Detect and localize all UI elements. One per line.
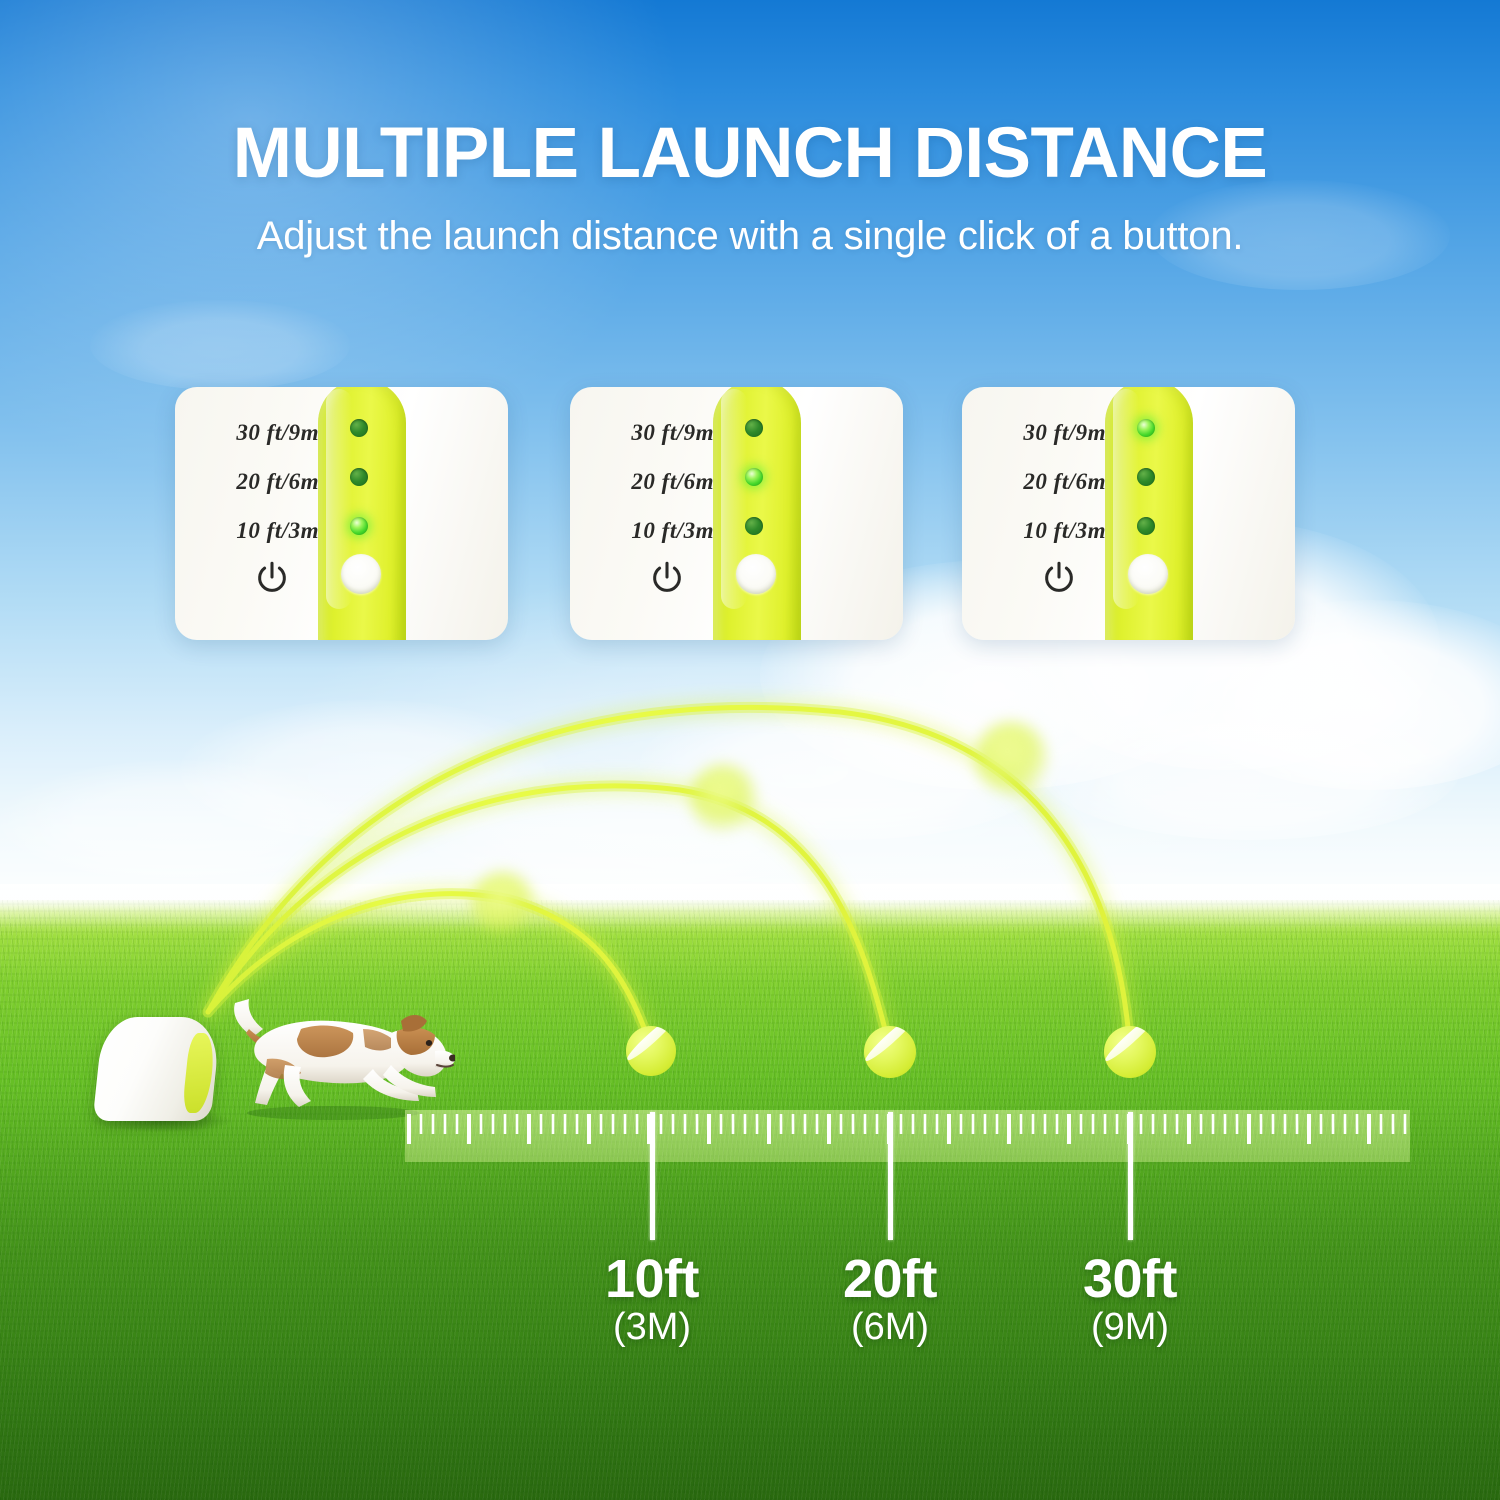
led-20ft [350, 468, 368, 486]
led-10ft [745, 517, 763, 535]
label-10ft: 10 ft/3m [195, 518, 319, 544]
distance-meters: (6M) [765, 1307, 1015, 1349]
led-20ft [745, 468, 763, 486]
led-10ft [350, 517, 368, 535]
distance-marker-10ft: 10ft (3M) [527, 1252, 777, 1349]
led-30ft [1137, 419, 1155, 437]
distance-feet: 20ft [765, 1252, 1015, 1307]
infographic-stage: MULTIPLE LAUNCH DISTANCE Adjust the laun… [0, 0, 1500, 1500]
tennis-ball-10ft [626, 1026, 676, 1076]
distance-marker-20ft: 20ft (6M) [765, 1252, 1015, 1349]
distance-meters: (9M) [1005, 1307, 1255, 1349]
power-icon [648, 559, 686, 597]
mode-button[interactable] [341, 554, 381, 594]
label-30ft: 30 ft/9m [195, 420, 319, 446]
led-30ft [350, 419, 368, 437]
control-panel-10ft[interactable]: 30 ft/9m 20 ft/6m 10 ft/3m [175, 387, 508, 640]
control-panel-20ft[interactable]: 30 ft/9m 20 ft/6m 10 ft/3m [570, 387, 903, 640]
mode-button[interactable] [1128, 554, 1168, 594]
distance-feet: 10ft [527, 1252, 777, 1307]
tape-ticks [405, 1110, 1410, 1162]
label-20ft: 20 ft/6m [195, 469, 319, 495]
page-title: MULTIPLE LAUNCH DISTANCE [0, 118, 1500, 189]
tennis-ball-20ft [864, 1026, 916, 1078]
horizon-line [0, 884, 1500, 928]
led-20ft [1137, 468, 1155, 486]
control-panel-30ft[interactable]: 30 ft/9m 20 ft/6m 10 ft/3m [962, 387, 1295, 640]
marker-line-20ft [888, 1112, 893, 1240]
ball-in-flight-30ft [975, 722, 1047, 794]
ball-launcher [98, 1017, 216, 1121]
ball-in-flight-20ft [690, 765, 756, 831]
ball-in-flight-10ft [472, 872, 534, 934]
label-30ft: 30 ft/9m [982, 420, 1106, 446]
yellow-strip [1105, 387, 1193, 640]
yellow-strip [318, 387, 406, 640]
tennis-ball-30ft [1104, 1026, 1156, 1078]
running-dog [205, 985, 455, 1120]
mode-button[interactable] [736, 554, 776, 594]
page-subtitle: Adjust the launch distance with a single… [0, 212, 1500, 260]
distance-marker-30ft: 30ft (9M) [1005, 1252, 1255, 1349]
label-10ft: 10 ft/3m [982, 518, 1106, 544]
distance-feet: 30ft [1005, 1252, 1255, 1307]
power-icon [253, 559, 291, 597]
distance-meters: (3M) [527, 1307, 777, 1349]
led-30ft [745, 419, 763, 437]
label-10ft: 10 ft/3m [590, 518, 714, 544]
measuring-tape [405, 1110, 1410, 1162]
power-icon [1040, 559, 1078, 597]
led-10ft [1137, 517, 1155, 535]
yellow-strip [713, 387, 801, 640]
label-20ft: 20 ft/6m [982, 469, 1106, 495]
marker-line-30ft [1128, 1112, 1133, 1240]
marker-line-10ft [650, 1112, 655, 1240]
label-30ft: 30 ft/9m [590, 420, 714, 446]
label-20ft: 20 ft/6m [590, 469, 714, 495]
